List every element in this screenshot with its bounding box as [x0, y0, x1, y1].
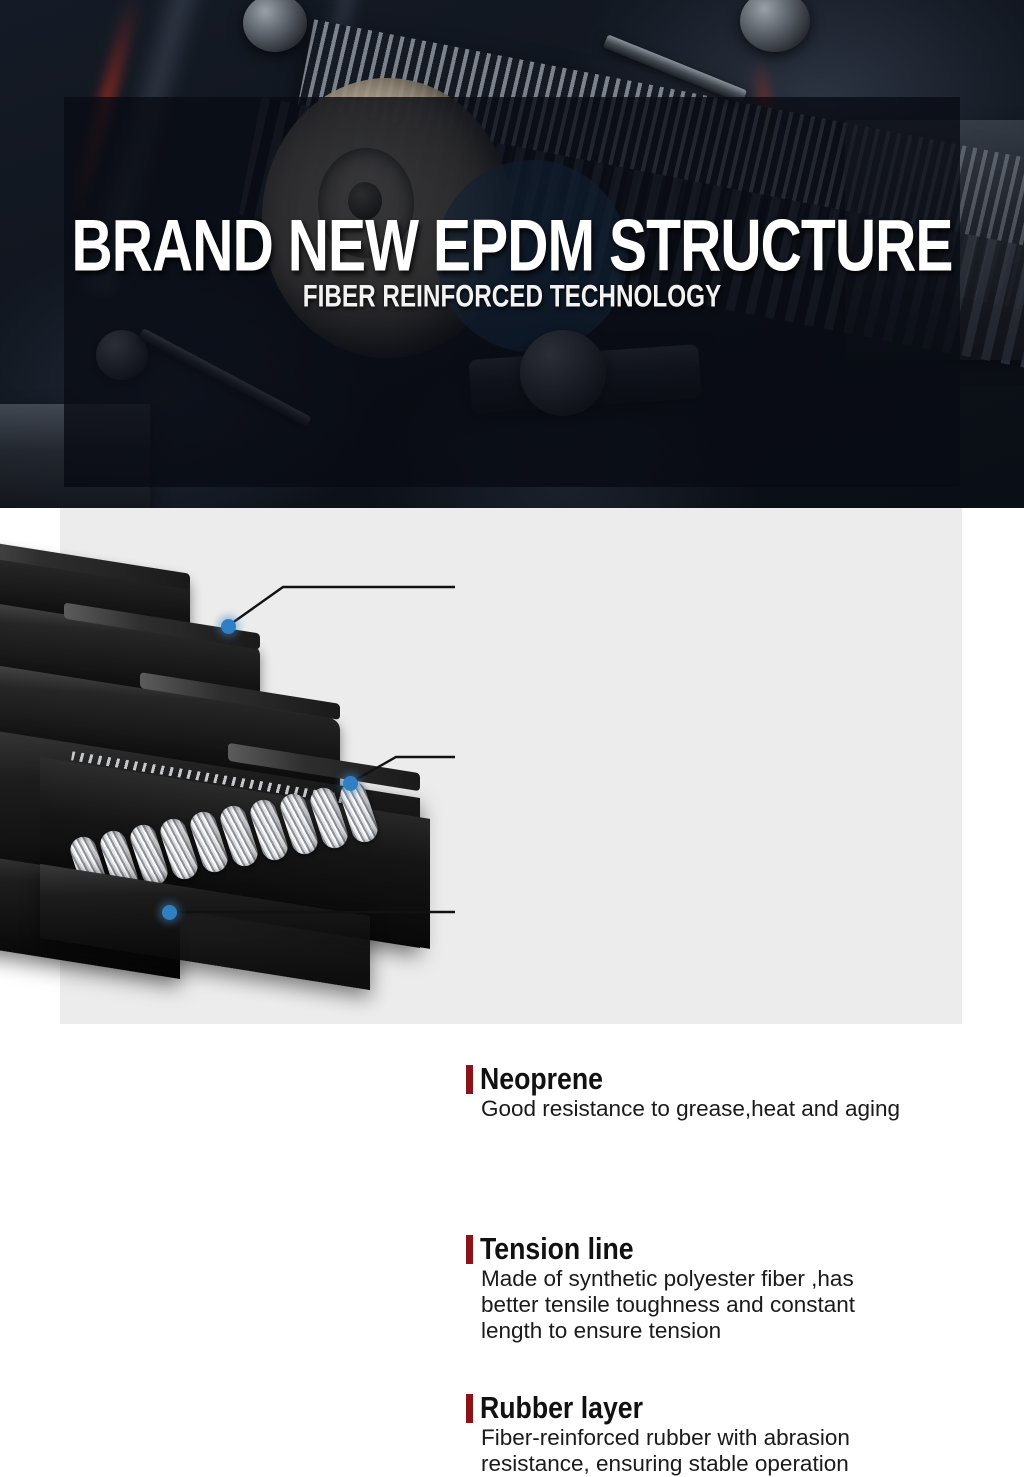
- page-title: BRAND NEW EPDM STRUCTURE: [41, 210, 983, 283]
- page-subtitle: FIBER REINFORCED TECHNOLOGY: [51, 281, 973, 312]
- callout-body-line: length to ensure tension: [481, 1318, 855, 1344]
- features-panel: Neoprene Good resistance to grease,heat …: [0, 508, 1024, 1024]
- accent-bar-icon: [466, 1235, 473, 1264]
- callout-body-line: resistance, ensuring stable operation: [481, 1451, 850, 1477]
- hero-banner: BRAND NEW EPDM STRUCTURE FIBER REINFORCE…: [0, 0, 1024, 508]
- callout-heading: Tension line: [466, 1234, 855, 1264]
- callout-body-line: Made of synthetic polyester fiber ,has: [481, 1266, 855, 1292]
- accent-bar-icon: [466, 1065, 473, 1094]
- marker-dot-rubber: [162, 905, 177, 920]
- callout-body-line: better tensile toughness and constant: [481, 1292, 855, 1318]
- callout-body-line: Fiber-reinforced rubber with abrasion: [481, 1425, 850, 1451]
- callout-neoprene: Neoprene Good resistance to grease,heat …: [466, 1064, 900, 1122]
- marker-dot-tension: [343, 776, 358, 791]
- callout-rubber-layer: Rubber layer Fiber-reinforced rubber wit…: [466, 1393, 850, 1477]
- callout-body-line: Good resistance to grease,heat and aging: [481, 1096, 900, 1122]
- callout-title: Neoprene: [480, 1064, 603, 1094]
- marker-dot-neoprene: [221, 619, 236, 634]
- callout-body: Fiber-reinforced rubber with abrasion re…: [481, 1425, 850, 1477]
- callout-heading: Rubber layer: [466, 1393, 850, 1423]
- callout-title: Rubber layer: [480, 1393, 643, 1423]
- callout-body: Made of synthetic polyester fiber ,has b…: [481, 1266, 855, 1344]
- infographic-page: BRAND NEW EPDM STRUCTURE FIBER REINFORCE…: [0, 0, 1024, 1024]
- callout-heading: Neoprene: [466, 1064, 900, 1094]
- v-belt-illustration: [0, 438, 560, 1028]
- callout-title: Tension line: [480, 1234, 634, 1264]
- callout-body: Good resistance to grease,heat and aging: [481, 1096, 900, 1122]
- accent-bar-icon: [466, 1394, 473, 1423]
- callout-tension-line: Tension line Made of synthetic polyester…: [466, 1234, 855, 1344]
